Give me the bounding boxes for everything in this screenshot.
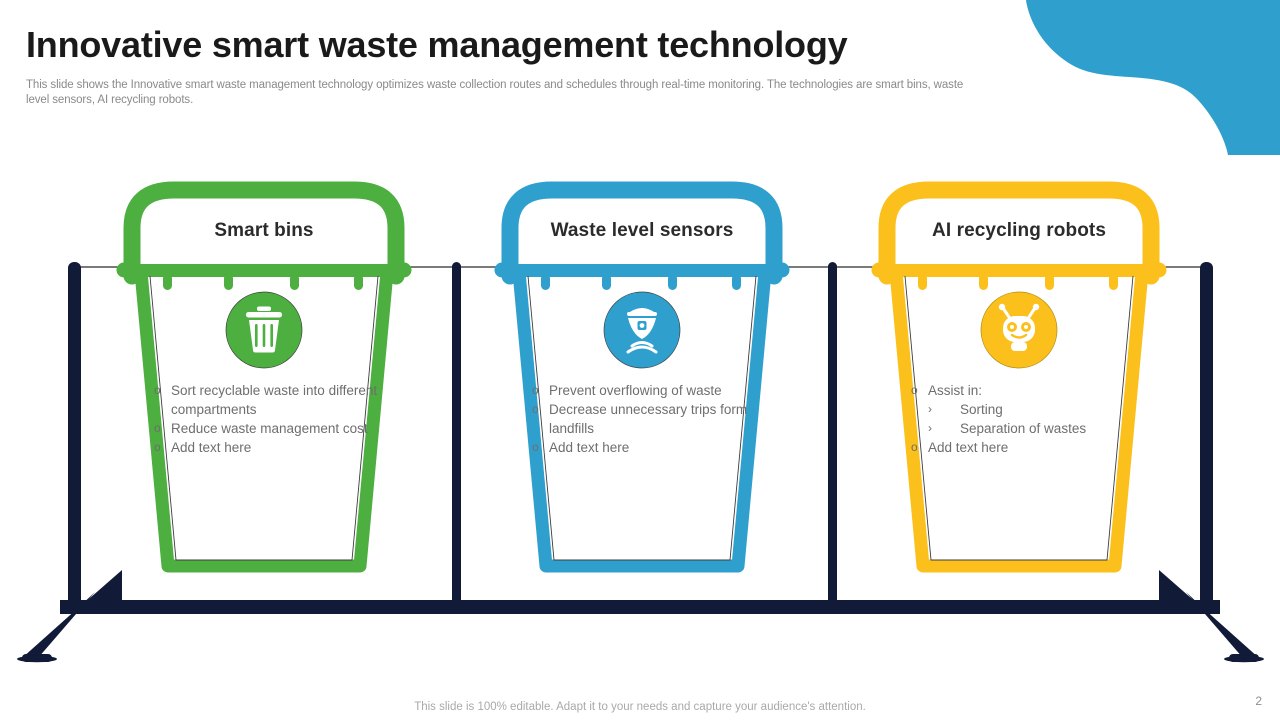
list-item: o Assist in: bbox=[911, 381, 1143, 400]
bullet-marker-icon: o bbox=[154, 438, 171, 457]
list-item-text: Decrease unnecessary trips form landfill… bbox=[549, 400, 758, 438]
bullet-marker-icon: o bbox=[532, 438, 549, 457]
bin-card-smart-bins[interactable]: Smart bins o Sort recyclable waste into … bbox=[114, 176, 414, 580]
bullet-marker-icon: o bbox=[911, 381, 928, 400]
footer-note: This slide is 100% editable. Adapt it to… bbox=[0, 701, 1280, 713]
list-item-text: Assist in: bbox=[928, 381, 1143, 400]
list-item-text: Reduce waste management cost bbox=[171, 419, 380, 438]
bullet-marker-icon: o bbox=[532, 381, 549, 400]
bin-bullet-list: o Prevent overflowing of waste o Decreas… bbox=[532, 381, 758, 457]
list-item: o Add text here bbox=[154, 438, 380, 457]
trash-bin-icon bbox=[224, 290, 304, 370]
bin-card-ai-recycling-robots[interactable]: AI recycling robots o Assist in: bbox=[869, 176, 1169, 580]
list-item-text: Sort recyclable waste into different com… bbox=[171, 381, 380, 419]
bullet-marker-icon: o bbox=[154, 381, 171, 400]
list-item: o Decrease unnecessary trips form landfi… bbox=[532, 400, 758, 438]
sub-list-item-text: Separation of wastes bbox=[960, 419, 1143, 438]
list-item-text: Prevent overflowing of waste bbox=[549, 381, 758, 400]
bullet-marker-icon: o bbox=[154, 419, 171, 438]
list-item-text: Add text here bbox=[549, 438, 758, 457]
sub-list-item: › Sorting bbox=[911, 400, 1143, 419]
list-item: o Add text here bbox=[532, 438, 758, 457]
list-item: o Sort recyclable waste into different c… bbox=[154, 381, 380, 419]
bin-card-waste-level-sensors[interactable]: Waste level sensors o Prevent overflowin… bbox=[492, 176, 792, 580]
chevron-right-icon: › bbox=[928, 400, 960, 419]
bin-title: Smart bins bbox=[114, 220, 414, 242]
slide-canvas: Innovative smart waste management techno… bbox=[0, 0, 1280, 720]
list-item: o Prevent overflowing of waste bbox=[532, 381, 758, 400]
bin-bullet-list: o Assist in: › Sorting › Separation of w… bbox=[911, 381, 1143, 457]
list-item: o Reduce waste management cost bbox=[154, 419, 380, 438]
list-item: o Add text here bbox=[911, 438, 1143, 457]
sensor-signal-icon bbox=[602, 290, 682, 370]
bullet-marker-icon: o bbox=[911, 438, 928, 457]
robot-head-icon bbox=[979, 290, 1059, 370]
sub-list-item-text: Sorting bbox=[960, 400, 1143, 419]
list-item-text: Add text here bbox=[928, 438, 1143, 457]
bins-container: Smart bins o Sort recyclable waste into … bbox=[0, 0, 1280, 720]
page-number: 2 bbox=[1255, 694, 1262, 708]
chevron-right-icon: › bbox=[928, 419, 960, 438]
bullet-marker-icon: o bbox=[532, 400, 549, 419]
bin-title: Waste level sensors bbox=[492, 220, 792, 242]
list-item-text: Add text here bbox=[171, 438, 380, 457]
sub-list-item: › Separation of wastes bbox=[911, 419, 1143, 438]
bin-title: AI recycling robots bbox=[869, 220, 1169, 242]
bin-bullet-list: o Sort recyclable waste into different c… bbox=[154, 381, 380, 457]
